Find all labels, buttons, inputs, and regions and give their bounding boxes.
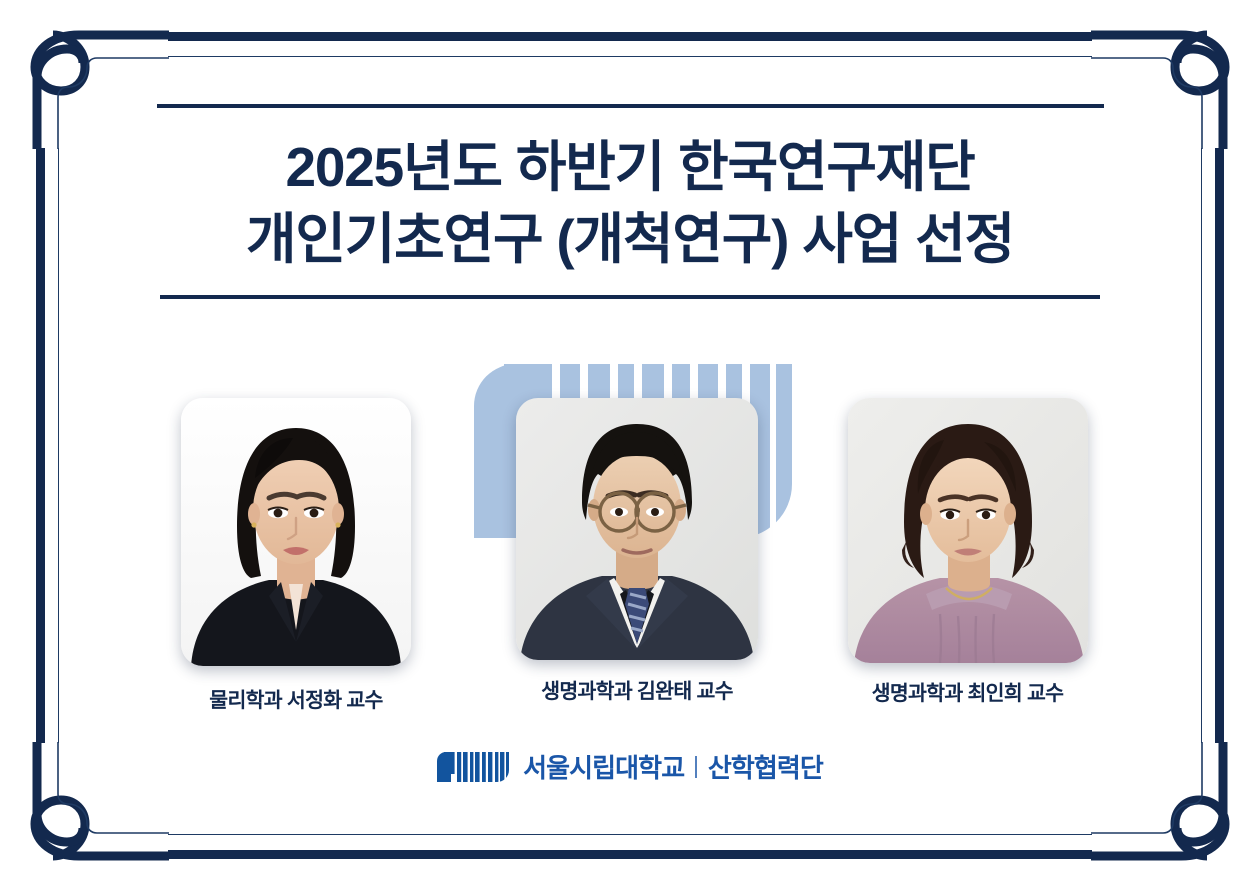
- uos-barcode-logo-mark-icon: [437, 752, 509, 782]
- footer-logo-divider: [695, 756, 697, 778]
- professor-card-3: 생명과학과 최인희 교수: [845, 398, 1090, 706]
- professor-list: 물리학과 서정화 교수: [0, 398, 1260, 708]
- page-title-line-1: 2025년도 하반기 한국연구재단: [0, 132, 1260, 204]
- professor-caption-1: 물리학과 서정화 교수: [176, 683, 416, 713]
- professor-card-2: 생명과학과 김완태 교수: [512, 398, 762, 704]
- professor-photo-1: [181, 398, 411, 666]
- footer-logo: 서울시립대학교 산학협력단: [0, 748, 1260, 785]
- professor-photo-2: [516, 398, 758, 660]
- professor-photo-3: [848, 398, 1088, 663]
- footer-university-name: 서울시립대학교: [523, 748, 684, 785]
- professor-caption-2: 생명과학과 김완태 교수: [512, 674, 762, 704]
- professor-card-1: 물리학과 서정화 교수: [176, 398, 416, 713]
- title-block: 2025년도 하반기 한국연구재단 개인기초연구 (개척연구) 사업 선정: [0, 104, 1260, 299]
- footer-organization-name: 산학협력단: [708, 748, 823, 785]
- footer-logo-text: 서울시립대학교 산학협력단: [523, 748, 823, 785]
- professor-caption-3: 생명과학과 최인희 교수: [845, 676, 1090, 706]
- title-rule-bottom: [160, 295, 1100, 299]
- title-rule-top: [157, 104, 1104, 108]
- page-title-line-2: 개인기초연구 (개척연구) 사업 선정: [0, 204, 1260, 276]
- poster-canvas: 2025년도 하반기 한국연구재단 개인기초연구 (개척연구) 사업 선정: [0, 0, 1260, 891]
